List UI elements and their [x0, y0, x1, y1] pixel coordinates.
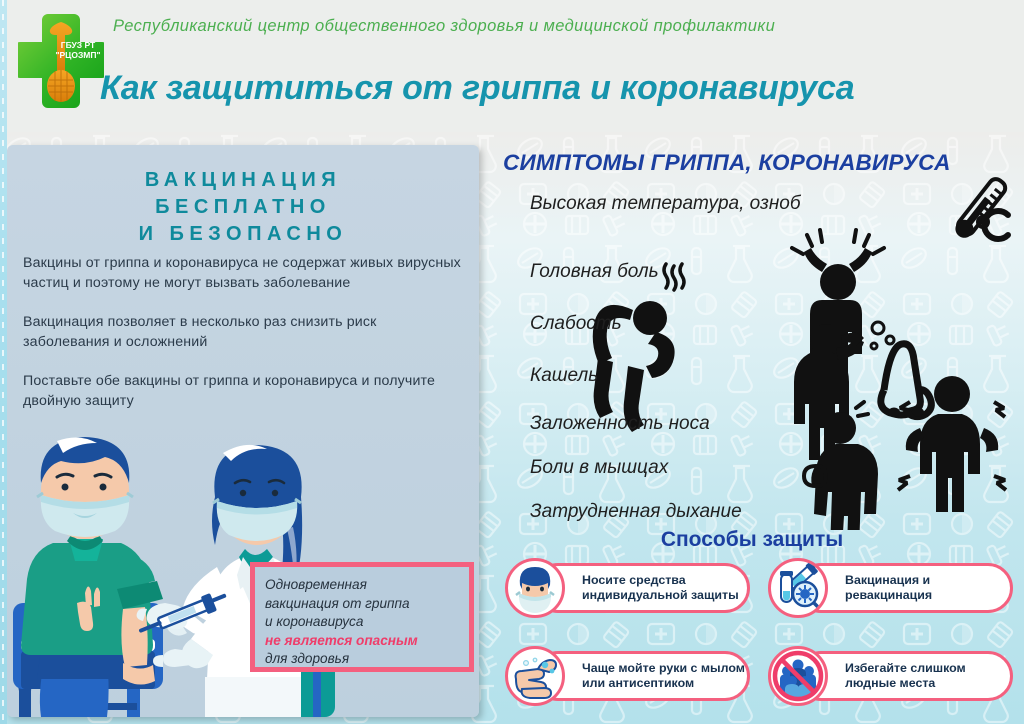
vaccination-panel: ВАКЦИНАЦИЯ БЕСПЛАТНО И БЕЗОПАСНО Вакцины… [7, 145, 479, 717]
logo-text-line1: ГБУЗ РТ [61, 40, 96, 50]
patient-figure [21, 437, 163, 717]
washing-hands-icon [508, 649, 562, 703]
protection-label-line1: Избегайте слишком [845, 661, 966, 675]
poster-header: ГБУЗ РТ "РЦОЗМП" Республиканский центр о… [0, 0, 1024, 132]
callout-line-3: и коронавируса [265, 614, 363, 629]
heading-line-3: И БЕЗОПАСНО [7, 221, 479, 248]
safety-callout-text: Одновременная вакцинация от гриппа и кор… [265, 576, 469, 669]
face-mask-person-icon [508, 561, 562, 615]
symptom-item: Высокая температура, озноб [530, 193, 1000, 215]
protection-label-line2: индивидуальной защиты [582, 588, 739, 602]
protection-label-line1: Носите средства [582, 573, 686, 587]
symptom-item: Заложенность носа [530, 413, 1000, 435]
vaccination-paragraph: Вакцины от гриппа и коронавируса не соде… [23, 253, 463, 293]
magnifier-virus [793, 582, 820, 609]
vaccination-panel-body: Вакцины от гриппа и коронавируса не соде… [23, 253, 463, 430]
safety-callout-box: Одновременная вакцинация от гриппа и кор… [250, 562, 474, 672]
protection-cards: Носите средства индивидуальной защиты [505, 563, 1013, 713]
test-tube [780, 571, 793, 602]
protection-card-pill[interactable]: Носите средства индивидуальной защиты [533, 563, 750, 613]
protection-label-line2: ревакцинация [845, 588, 932, 602]
vaccination-paragraph: Поставьте обе вакцины от гриппа и корона… [23, 371, 463, 411]
protection-card-label: Чаще мойте руки с мылом или антисептиком [582, 661, 745, 692]
logo-text-line2: "РЦОЗМП" [55, 50, 100, 60]
callout-line-1: Одновременная [265, 577, 367, 592]
symptom-item: Слабость [530, 313, 1000, 335]
left-edge-strip [0, 0, 7, 724]
protection-card-badge [768, 646, 828, 706]
protection-card-badge [505, 646, 565, 706]
symptom-item: Кашель [530, 365, 1000, 387]
protection-card-pill[interactable]: Чаще мойте руки с мылом или антисептиком [533, 651, 750, 701]
protection-card-avoid-crowds[interactable]: Избегайте слишком людные места [768, 651, 1013, 701]
protection-label-line1: Вакцинация и [845, 573, 930, 587]
protection-card-badge [505, 558, 565, 618]
protection-label-line1: Чаще мойте руки с мылом [582, 661, 745, 675]
protection-label-line2: людные места [845, 676, 935, 690]
protection-card-vaccination[interactable]: Вакцинация и ревакцинация [768, 563, 1013, 613]
green-cross-with-dombra-logo: ГБУЗ РТ "РЦОЗМП" [18, 8, 104, 120]
protection-card-pill[interactable]: Избегайте слишком людные места [796, 651, 1013, 701]
page-title: Как защититься от гриппа и коронавируса [100, 69, 854, 108]
callout-line-2: вакцинация от гриппа [265, 596, 410, 611]
infographic-poster: ГБУЗ РТ "РЦОЗМП" Республиканский центр о… [0, 0, 1024, 724]
organization-name: Республиканский центр общественного здор… [113, 17, 993, 36]
heading-line-1: ВАКЦИНАЦИЯ [7, 167, 479, 194]
callout-line-5: для здоровья [265, 651, 349, 666]
protection-card-pill[interactable]: Вакцинация и ревакцинация [796, 563, 1013, 613]
organization-logo: ГБУЗ РТ "РЦОЗМП" [18, 8, 104, 120]
protection-card-badge [768, 558, 828, 618]
heading-line-2: БЕСПЛАТНО [7, 194, 479, 221]
symptom-item: Боли в мышцах [530, 457, 1000, 479]
protection-card-label: Избегайте слишком людные места [845, 661, 966, 692]
symptoms-list: Высокая температура, озноб Головная боль… [530, 193, 1000, 523]
protection-card-handwashing[interactable]: Чаще мойте руки с мылом или антисептиком [505, 651, 750, 701]
protection-card-ppe[interactable]: Носите средства индивидуальной защиты [505, 563, 750, 613]
callout-danger-text: не является опасным [265, 633, 418, 648]
protection-label-line2: или антисептиком [582, 676, 694, 690]
vaccination-paragraph: Вакцинация позволяет в несколько раз сни… [23, 312, 463, 352]
symptoms-title: СИМПТОМЫ ГРИППА, КОРОНАВИРУСА [503, 150, 951, 176]
vaccination-panel-heading: ВАКЦИНАЦИЯ БЕСПЛАТНО И БЕЗОПАСНО [7, 167, 479, 248]
symptom-item: Затрудненная дыхание [530, 501, 1000, 523]
syringe-vial-icon [771, 561, 825, 615]
protection-card-label: Носите средства индивидуальной защиты [582, 573, 739, 604]
symptom-item: Головная боль [530, 261, 1000, 283]
no-crowd-icon [771, 649, 825, 703]
protection-card-label: Вакцинация и ревакцинация [845, 573, 932, 604]
